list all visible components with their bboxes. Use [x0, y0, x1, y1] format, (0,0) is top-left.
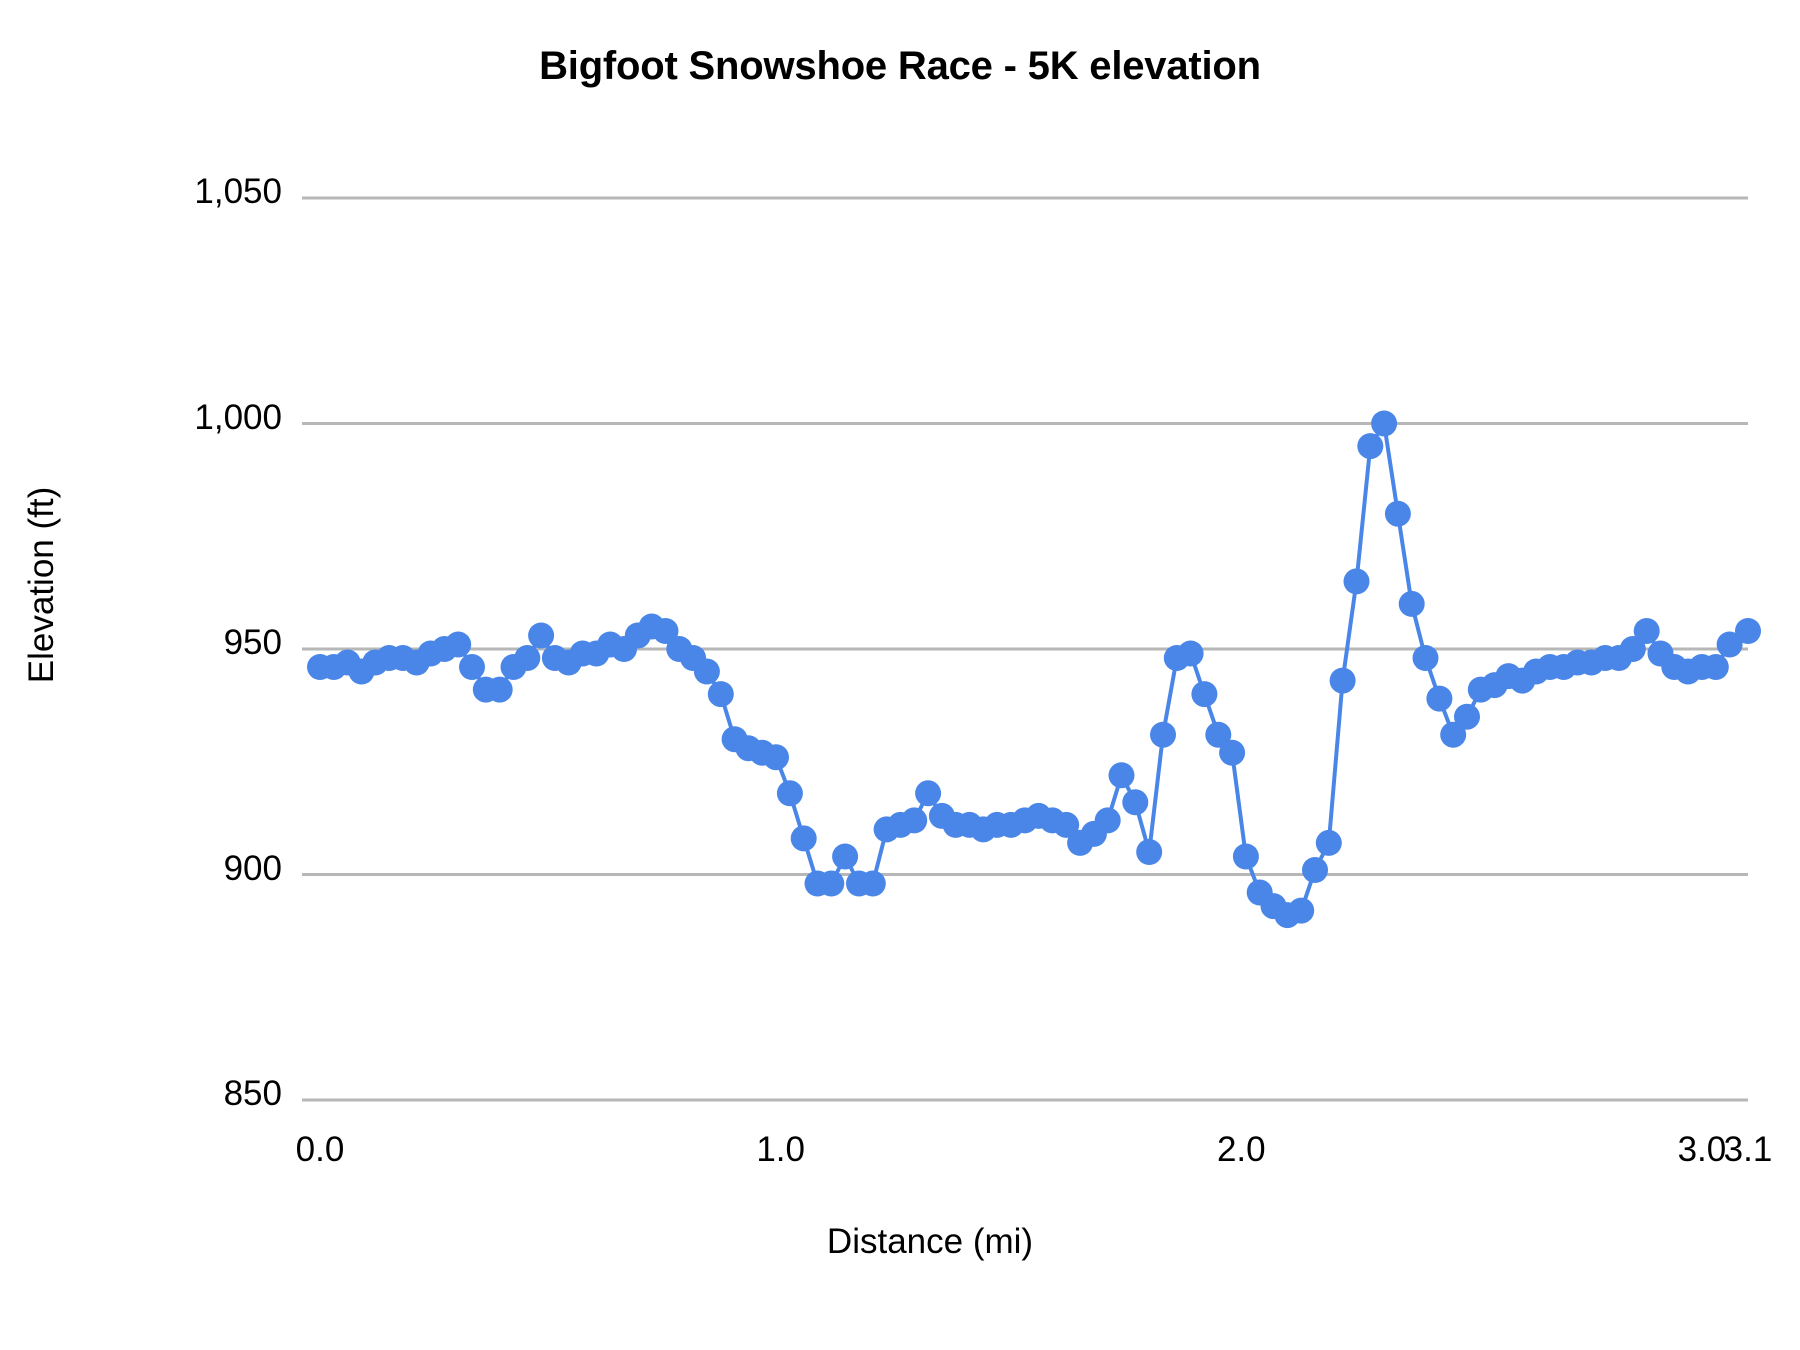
data-point[interactable] [1371, 411, 1397, 437]
data-point[interactable] [1122, 789, 1148, 815]
data-point[interactable] [1233, 844, 1259, 870]
data-point[interactable] [1634, 618, 1660, 644]
data-point[interactable] [1344, 568, 1370, 594]
data-point[interactable] [901, 807, 927, 833]
y-tick-label: 1,050 [0, 172, 282, 212]
data-point[interactable] [528, 623, 554, 649]
data-point[interactable] [1219, 740, 1245, 766]
data-point[interactable] [1316, 830, 1342, 856]
elevation-chart: Bigfoot Snowshoe Race - 5K elevation 850… [0, 0, 1800, 1350]
data-point[interactable] [915, 780, 941, 806]
x-tick-label: 2.0 [1141, 1130, 1341, 1170]
x-tick-label: 1.0 [681, 1130, 881, 1170]
data-point[interactable] [1095, 807, 1121, 833]
x-tick-label: 0.0 [220, 1130, 420, 1170]
data-point[interactable] [694, 659, 720, 685]
y-axis-title: Elevation (ft) [22, 435, 62, 735]
data-point[interactable] [1735, 618, 1761, 644]
data-point[interactable] [514, 645, 540, 671]
data-point[interactable] [1703, 654, 1729, 680]
data-point[interactable] [832, 844, 858, 870]
data-point[interactable] [791, 825, 817, 851]
data-point[interactable] [708, 681, 734, 707]
y-tick-marks [302, 198, 320, 1100]
data-point[interactable] [1191, 681, 1217, 707]
data-point[interactable] [1454, 704, 1480, 730]
data-point[interactable] [1109, 762, 1135, 788]
y-tick-label: 850 [0, 1074, 282, 1114]
data-point[interactable] [445, 632, 471, 658]
y-tick-label: 1,000 [0, 398, 282, 438]
y-tick-label: 900 [0, 849, 282, 889]
data-point[interactable] [1385, 501, 1411, 527]
data-point[interactable] [818, 871, 844, 897]
data-point[interactable] [487, 677, 513, 703]
data-point[interactable] [1399, 591, 1425, 617]
data-point[interactable] [1357, 433, 1383, 459]
elevation-markers [307, 411, 1761, 929]
data-point[interactable] [1136, 839, 1162, 865]
x-axis-title: Distance (mi) [300, 1222, 1560, 1262]
data-point[interactable] [1150, 722, 1176, 748]
data-point[interactable] [1178, 641, 1204, 667]
data-point[interactable] [777, 780, 803, 806]
data-point[interactable] [1302, 857, 1328, 883]
data-point[interactable] [459, 654, 485, 680]
data-point[interactable] [1413, 645, 1439, 671]
data-point[interactable] [1426, 686, 1452, 712]
data-point[interactable] [1330, 668, 1356, 694]
data-point[interactable] [860, 871, 886, 897]
x-tick-label: 3.1 [1648, 1130, 1800, 1170]
data-point[interactable] [1288, 898, 1314, 924]
data-point[interactable] [763, 744, 789, 770]
